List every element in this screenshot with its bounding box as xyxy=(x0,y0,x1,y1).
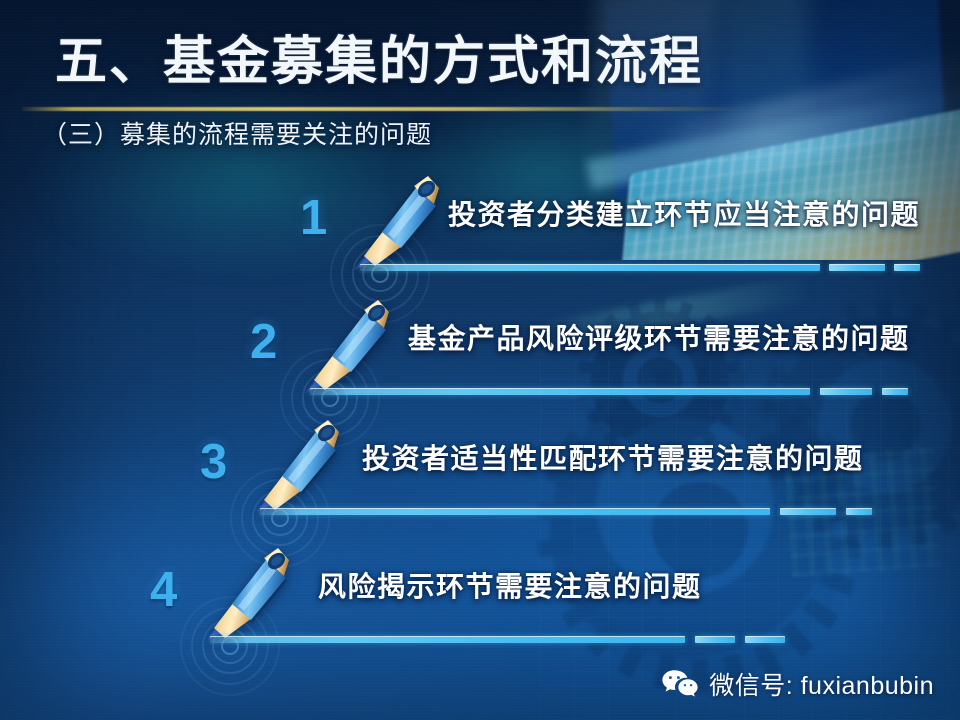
list-item-underline xyxy=(260,508,872,515)
pencil-icon xyxy=(294,290,390,402)
list-item-number: 1 xyxy=(300,194,327,243)
underline-dash-short xyxy=(846,508,872,515)
list-item[interactable]: 3 投资者适当性匹配环节需要注意的问题 xyxy=(200,412,900,542)
list-item-number: 3 xyxy=(200,438,227,487)
list-item-label: 基金产品风险评级环节需要注意的问题 xyxy=(408,322,910,357)
underline-dash-medium xyxy=(695,636,735,643)
underline-dash-medium xyxy=(829,264,885,271)
list-item-underline xyxy=(360,264,920,271)
list-item[interactable]: 4 风险揭示环节需要注意的问题 xyxy=(150,540,870,670)
title-divider xyxy=(22,107,752,111)
list-item-label: 投资者分类建立环节应当注意的问题 xyxy=(448,198,920,233)
list-item-label: 投资者适当性匹配环节需要注意的问题 xyxy=(362,442,864,477)
underline-main-bar xyxy=(210,636,685,643)
underline-dash-short xyxy=(882,388,908,395)
presentation-slide: 五、基金募集的方式和流程 （三）募集的流程需要关注的问题 1 xyxy=(0,0,960,720)
wechat-watermark: 微信号: fuxianbubin xyxy=(661,666,934,702)
underline-dash-short xyxy=(745,636,785,643)
list-item[interactable]: 1 xyxy=(300,168,940,298)
page-title: 五、基金募集的方式和流程 xyxy=(55,34,703,92)
list-item-number: 4 xyxy=(150,566,177,615)
underline-dash-short xyxy=(894,264,920,271)
watermark-label: 微信号: fuxianbubin xyxy=(709,666,934,702)
list-item-label: 风险揭示环节需要注意的问题 xyxy=(318,570,702,605)
list-item-underline xyxy=(310,388,908,395)
wechat-icon xyxy=(661,668,699,700)
underline-main-bar xyxy=(310,388,810,395)
page-subtitle: （三）募集的流程需要关注的问题 xyxy=(42,120,432,153)
underline-main-bar xyxy=(260,508,770,515)
pencil-icon xyxy=(344,166,440,278)
underline-main-bar xyxy=(360,264,820,271)
underline-dash-medium xyxy=(780,508,836,515)
list-item-number: 2 xyxy=(250,318,277,367)
list-item-underline xyxy=(210,636,785,643)
pencil-icon xyxy=(244,410,340,522)
underline-dash-medium xyxy=(820,388,872,395)
list-item[interactable]: 2 基金产品风险评级环节需要注意的问题 xyxy=(250,292,940,422)
pencil-icon xyxy=(194,538,290,650)
